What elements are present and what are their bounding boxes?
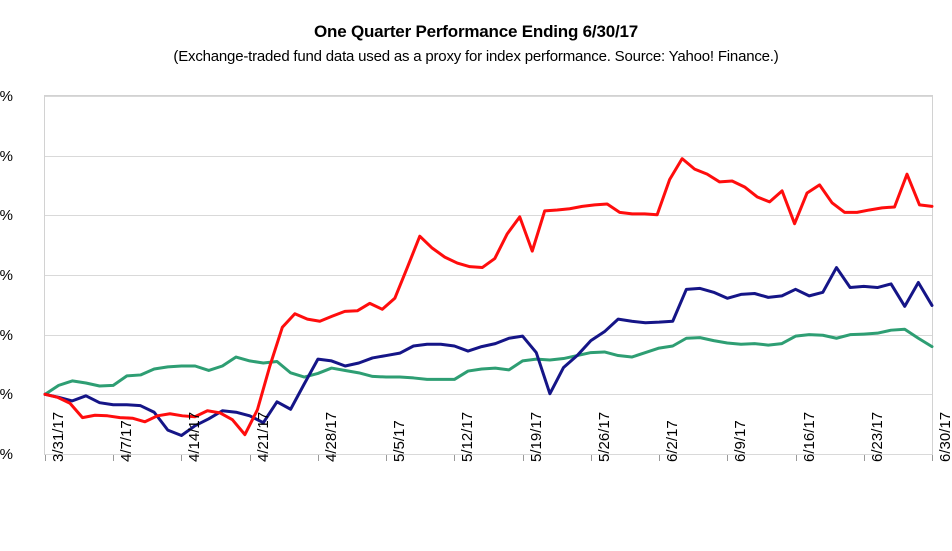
x-axis-tick-label: 4/14/17 [187, 412, 202, 462]
series-line [45, 268, 932, 436]
series-lines [45, 96, 932, 454]
chart-subtitle: (Exchange-traded fund data used as a pro… [0, 48, 952, 65]
x-axis-tick-label: 6/23/17 [870, 412, 885, 462]
y-axis-tick-label: 6% [0, 208, 13, 223]
x-axis-tick [523, 455, 524, 461]
x-axis-tick [113, 455, 114, 461]
x-axis-tick [181, 455, 182, 461]
x-axis-tick-label: 6/30/17 [938, 412, 952, 462]
x-axis-tick [659, 455, 660, 461]
x-axis-tick [45, 455, 46, 461]
x-axis-tick [796, 455, 797, 461]
x-axis-tick [591, 455, 592, 461]
chart-title: One Quarter Performance Ending 6/30/17 [0, 22, 952, 42]
x-axis-tick-label: 6/16/17 [802, 412, 817, 462]
x-axis-tick [250, 455, 251, 461]
x-axis-tick [454, 455, 455, 461]
x-axis-tick-label: 4/21/17 [256, 412, 271, 462]
y-axis-tick-label: 10% [0, 89, 13, 104]
x-axis-tick [727, 455, 728, 461]
x-axis-tick [386, 455, 387, 461]
y-axis-tick-label: 4% [0, 268, 13, 283]
chart-container: One Quarter Performance Ending 6/30/17 (… [0, 0, 952, 551]
y-axis-tick-label: 0% [0, 387, 13, 402]
x-axis-tick-label: 5/19/17 [529, 412, 544, 462]
y-axis-tick-label: -2% [0, 447, 13, 462]
series-line [45, 159, 932, 435]
series-line [45, 329, 932, 394]
x-axis-tick [864, 455, 865, 461]
x-axis-tick-label: 3/31/17 [51, 412, 66, 462]
x-axis-tick-label: 4/28/17 [324, 412, 339, 462]
x-axis-tick-label: 4/7/17 [119, 420, 134, 462]
y-axis-tick-label: 2% [0, 328, 13, 343]
x-axis-tick-label: 5/26/17 [597, 412, 612, 462]
gridline [45, 454, 932, 455]
x-axis-tick [932, 455, 933, 461]
x-axis-tick-label: 6/9/17 [733, 420, 748, 462]
plot-area [44, 95, 933, 455]
y-axis-tick-label: 8% [0, 149, 13, 164]
x-axis-tick [318, 455, 319, 461]
x-axis-tick-label: 5/12/17 [460, 412, 475, 462]
x-axis-tick-label: 6/2/17 [665, 420, 680, 462]
x-axis-tick-label: 5/5/17 [392, 420, 407, 462]
